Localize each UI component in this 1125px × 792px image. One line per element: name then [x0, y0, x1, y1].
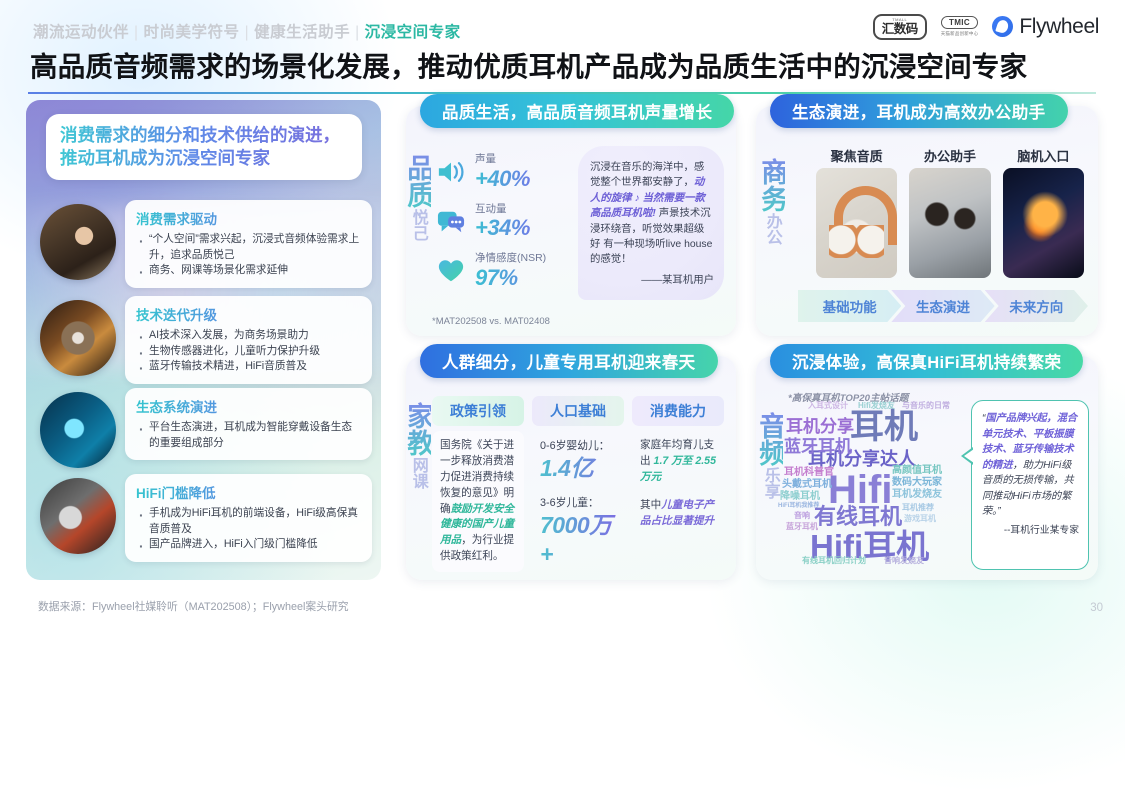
left-summary-card: 消费需求的细分和技术供给的演进，推动耳机成为沉浸空间专家 消费需求驱动 “个人空… [26, 100, 381, 580]
word-cloud-term: 游戏耳机 [904, 515, 936, 523]
word-cloud-term: 音响 [794, 512, 810, 520]
page-title: 高品质音频需求的场景化发展，推动优质耳机产品成为品质生活中的沉浸空间专家 [30, 44, 1027, 84]
column-spending: 消费能力 家庭年均育儿支 出 1.7 万至 2.55万元 其中儿童电子产品占比显… [632, 396, 724, 576]
user-quote-part1: 沉浸在音乐的海洋中，感觉整个世界都安静了， [590, 162, 704, 188]
ecosystem-pic-labels: 聚焦音质 办公助手 脑机入口 [816, 146, 1084, 165]
left-section-2-list: 平台生态演进，耳机成为智能穿戴设备生态的重要组成部分 [136, 420, 361, 451]
left-section-3-list: 手机成为HiFi耳机的前端设备，HiFi级高保真音质普及 国产品牌进入，HiFi… [136, 506, 361, 553]
left-section-1-title: 技术迭代升级 [136, 304, 361, 324]
vertical-label-business-small: 办公 [763, 213, 779, 245]
left-card-headline: 消费需求的细分和技术供给的演进，推动耳机成为沉浸空间专家 [60, 124, 348, 170]
word-cloud-term: 头戴式耳机 [782, 480, 832, 490]
left-section-3: HiFi门槛降低 手机成为HiFi耳机的前端设备，HiFi级高保真音质普及 国产… [40, 474, 372, 562]
step-arrow-1: 生态演进 [891, 290, 994, 322]
spacer [640, 486, 716, 498]
word-cloud-term: 蓝牙耳机 [784, 438, 852, 455]
data-source-note: 数据来源：Flywheel社媒聆听（MAT202508）；Flywheel案头研… [38, 598, 349, 614]
speaker-driver-image [40, 300, 116, 376]
vertical-label-education-small: 网课 [409, 457, 425, 489]
card-children-header: 人群细分，儿童专用耳机迎来春天 [420, 344, 718, 378]
breadcrumb-item-1: 时尚美学符号 [144, 24, 240, 41]
spacer [540, 483, 616, 495]
headphone-product-image [816, 168, 897, 278]
pic-label-0: 聚焦音质 [816, 146, 897, 165]
pic-label-2: 脑机入口 [1003, 146, 1084, 165]
ecosystem-pictures [816, 168, 1084, 278]
column-policy-pill: 政策引领 [432, 396, 524, 426]
office-meeting-image [909, 168, 990, 278]
word-cloud-term: Hifi发烧友 [858, 402, 895, 410]
metric-nsr-value: 97% [475, 265, 546, 291]
population-number1: 1.4亿 [540, 454, 616, 483]
step-arrow-2: 未来方向 [985, 290, 1088, 322]
vertical-label-quality-big: 品质 [404, 154, 432, 208]
left-section-2: 生态系统演进 平台生态演进，耳机成为智能穿戴设备生态的重要组成部分 [40, 388, 372, 468]
breadcrumb-separator: | [350, 24, 365, 41]
expert-quote-box: “国产品牌兴起，混合单元技术、平板振膜技术、蓝牙传输技术的精进，助力HiFi级音… [971, 400, 1089, 570]
metric-nsr: 净情感度(NSR) 97% [436, 253, 571, 291]
chat-icon [436, 208, 466, 236]
left-section-0-box: 消费需求驱动 “个人空间”需求兴起，沉浸式音频体验需求上升，追求品质悦己 商务、… [125, 200, 372, 288]
breadcrumb-item-0: 潮流运动伙伴 [33, 24, 129, 41]
metrics-list: 声量 +40% 互动量 +34% [436, 154, 571, 303]
population-number2: 7000万+ [540, 511, 616, 569]
tmic-logo: TMIC 天猫新品创新中心 [941, 16, 979, 37]
list-item: 手机成为HiFi耳机的前端设备，HiFi级高保真音质普及 [136, 506, 361, 537]
speaker-icon [436, 158, 466, 186]
column-population-pill: 人口基础 [532, 396, 624, 426]
metric-nsr-label: 净情感度(NSR) [475, 253, 546, 265]
list-item: 平台生态演进，耳机成为智能穿戴设备生态的重要组成部分 [136, 420, 361, 451]
column-spending-body: 家庭年均育儿支 出 1.7 万至 2.55万元 其中儿童电子产品占比显著提升 [632, 431, 724, 566]
tmic-logo-box: TMIC [941, 16, 978, 29]
expert-quote-signature: --耳机行业某专家 [982, 524, 1079, 539]
column-policy: 政策引领 国务院《关于进一步释放消费潜力促进消费持续恢复的意见》明确鼓励开发安全… [432, 396, 524, 576]
vertical-label-quality-small: 悦己 [409, 209, 425, 241]
card-quality-life: 品质生活，高品质音频耳机声量增长 品质 悦己 声量 +40% [406, 106, 736, 336]
vertical-label-education-big: 家教 [404, 402, 432, 456]
step-arrow-0: 基础功能 [798, 290, 901, 322]
smart-ecosystem-image [40, 392, 116, 468]
word-cloud-term: 有线耳机 [814, 506, 902, 528]
word-cloud-term: 有线耳机回归计划 [802, 557, 866, 565]
breadcrumb-separator: | [240, 24, 255, 41]
flywheel-logo: Flywheel [992, 15, 1099, 39]
word-cloud-term: 与音乐的日常 [902, 402, 950, 410]
hifi-headphone-image [40, 478, 116, 554]
word-cloud-term: 音响发烧友 [884, 557, 924, 565]
tmic-logo-subtitle: 天猫新品创新中心 [941, 31, 979, 37]
list-item: 商务、网课等场景化需求延伸 [136, 263, 361, 279]
card-children-segment: 人群细分，儿童专用耳机迎来春天 家教 网课 政策引领 国务院《关于进一步释放消费… [406, 356, 736, 580]
flywheel-mark-icon [992, 16, 1013, 37]
left-section-3-box: HiFi门槛降低 手机成为HiFi耳机的前端设备，HiFi级高保真音质普及 国产… [125, 474, 372, 562]
hifi-word-cloud: 耳机HifiHifi耳机耳机分享达人有线耳机耳机分享蓝牙耳机耳机科普官头戴式耳机… [772, 402, 967, 570]
column-population: 人口基础 0-6岁婴幼儿： 1.4亿 3-6岁儿童： 7000万+ [532, 396, 624, 576]
word-cloud-term: 耳机科普官 [784, 468, 834, 478]
word-cloud-term: 蓝牙耳机 [786, 523, 818, 531]
brain-interface-image [1003, 168, 1084, 278]
card-hifi-experience: 沉浸体验，高保真HiFi耳机持续繁荣 音频 乐享 *高保真耳机TOP20主帖话题… [756, 356, 1098, 580]
ecosystem-step-arrows: 基础功能 生态演进 未来方向 [798, 290, 1088, 322]
flywheel-logo-text: Flywheel [1019, 15, 1099, 39]
spending-text-b: 其中 [640, 499, 661, 511]
page-number: 30 [1090, 602, 1103, 614]
woman-listening-image [40, 204, 116, 280]
left-section-2-title: 生态系统演进 [136, 396, 361, 416]
left-section-3-title: HiFi门槛降低 [136, 482, 361, 502]
word-cloud-term: 耳机 [850, 410, 918, 444]
metric-voice-volume-label: 声量 [475, 154, 530, 166]
breadcrumb: 潮流运动伙伴|时尚美学符号|健康生活助手|沉浸空间专家 [33, 20, 461, 42]
list-item: 国产品牌进入，HiFi入门级门槛降低 [136, 537, 361, 553]
word-cloud-term: 耳机推荐 [902, 504, 934, 512]
word-cloud-term: 入耳式设计 [808, 402, 848, 410]
list-item: 蓝牙传输技术精进，HiFi音质普及 [136, 359, 361, 375]
card-ecosystem-header: 生态演进，耳机成为高效办公助手 [770, 94, 1068, 128]
breadcrumb-separator: | [129, 24, 144, 41]
user-quote-bubble: 沉浸在音乐的海洋中，感觉整个世界都安静了，动人的旋律 ♪ 当然需要一款高品质耳机… [578, 146, 724, 300]
word-cloud-term: 高颜值耳机 [892, 466, 942, 476]
user-quote-signature: ——某耳机用户 [590, 273, 714, 288]
column-population-body: 0-6岁婴幼儿： 1.4亿 3-6岁儿童： 7000万+ [532, 431, 624, 576]
logo-group: TMALL 汇数码 TMIC 天猫新品创新中心 Flywheel [873, 14, 1099, 40]
title-divider [28, 92, 1096, 94]
breadcrumb-item-2: 健康生活助手 [254, 24, 350, 41]
metric-interaction-value: +34% [475, 215, 530, 241]
word-cloud-term: 耳机分享 [786, 418, 854, 435]
list-item: “个人空间”需求兴起，沉浸式音频体验需求上升，追求品质悦己 [136, 232, 361, 263]
breadcrumb-item-3-active: 沉浸空间专家 [365, 24, 461, 41]
huishuma-logo: TMALL 汇数码 [873, 14, 927, 40]
word-cloud-term: HiFi耳机我推荐 [778, 503, 819, 509]
population-line1: 0-6岁婴幼儿： [540, 438, 616, 454]
card-hifi-header: 沉浸体验，高保真HiFi耳机持续繁荣 [770, 344, 1083, 378]
metric-voice-volume-value: +40% [475, 166, 530, 192]
children-columns: 政策引领 国务院《关于进一步释放消费潜力促进消费持续恢复的意见》明确鼓励开发安全… [432, 396, 724, 576]
left-section-1-list: AI技术深入发展，为商务场景助力 生物传感器进化，儿童听力保护升级 蓝牙传输技术… [136, 328, 361, 375]
left-section-0: 消费需求驱动 “个人空间”需求兴起，沉浸式音频体验需求上升，追求品质悦己 商务、… [40, 200, 372, 288]
population-line2: 3-6岁儿童： [540, 495, 616, 511]
card-quality-footnote: *MAT202508 vs. MAT02408 [432, 316, 550, 327]
column-policy-body: 国务院《关于进一步释放消费潜力促进消费持续恢复的意见》明确鼓励开发安全健康的国产… [432, 431, 524, 572]
card-quality-life-header: 品质生活，高品质音频耳机声量增长 [420, 94, 734, 128]
list-item: 生物传感器进化，儿童听力保护升级 [136, 344, 361, 360]
metric-voice-volume: 声量 +40% [436, 154, 571, 192]
metric-interaction: 互动量 +34% [436, 204, 571, 242]
pic-label-1: 办公助手 [909, 146, 990, 165]
vertical-label-business-big: 商务 [758, 158, 786, 212]
list-item: AI技术深入发展，为商务场景助力 [136, 328, 361, 344]
left-section-0-list: “个人空间”需求兴起，沉浸式音频体验需求上升，追求品质悦己 商务、网课等场景化需… [136, 232, 361, 279]
heart-icon [436, 257, 466, 285]
word-cloud-term: 数码大玩家 [892, 478, 942, 488]
left-section-0-title: 消费需求驱动 [136, 208, 361, 228]
metric-interaction-label: 互动量 [475, 204, 530, 216]
column-spending-pill: 消费能力 [632, 396, 724, 426]
vertical-label-business: 商务 办公 [744, 158, 799, 245]
left-section-2-box: 生态系统演进 平台生态演进，耳机成为智能穿戴设备生态的重要组成部分 [125, 388, 372, 460]
left-section-1-box: 技术迭代升级 AI技术深入发展，为商务场景助力 生物传感器进化，儿童听力保护升级… [125, 296, 372, 384]
left-card-headline-box: 消费需求的细分和技术供给的演进，推动耳机成为沉浸空间专家 [46, 114, 362, 180]
slide-body: 消费需求的细分和技术供给的演进，推动耳机成为沉浸空间专家 消费需求驱动 “个人空… [26, 100, 1098, 580]
word-cloud-term: 降噪耳机 [780, 492, 820, 502]
word-cloud-term: 耳机发烧友 [892, 490, 942, 500]
left-section-1: 技术迭代升级 AI技术深入发展，为商务场景助力 生物传感器进化，儿童听力保护升级… [40, 296, 372, 384]
card-ecosystem: 生态演进，耳机成为高效办公助手 商务 办公 聚焦音质 办公助手 脑机入口 基础功… [756, 106, 1098, 336]
huishuma-logo-text: 汇数码 [882, 23, 918, 36]
